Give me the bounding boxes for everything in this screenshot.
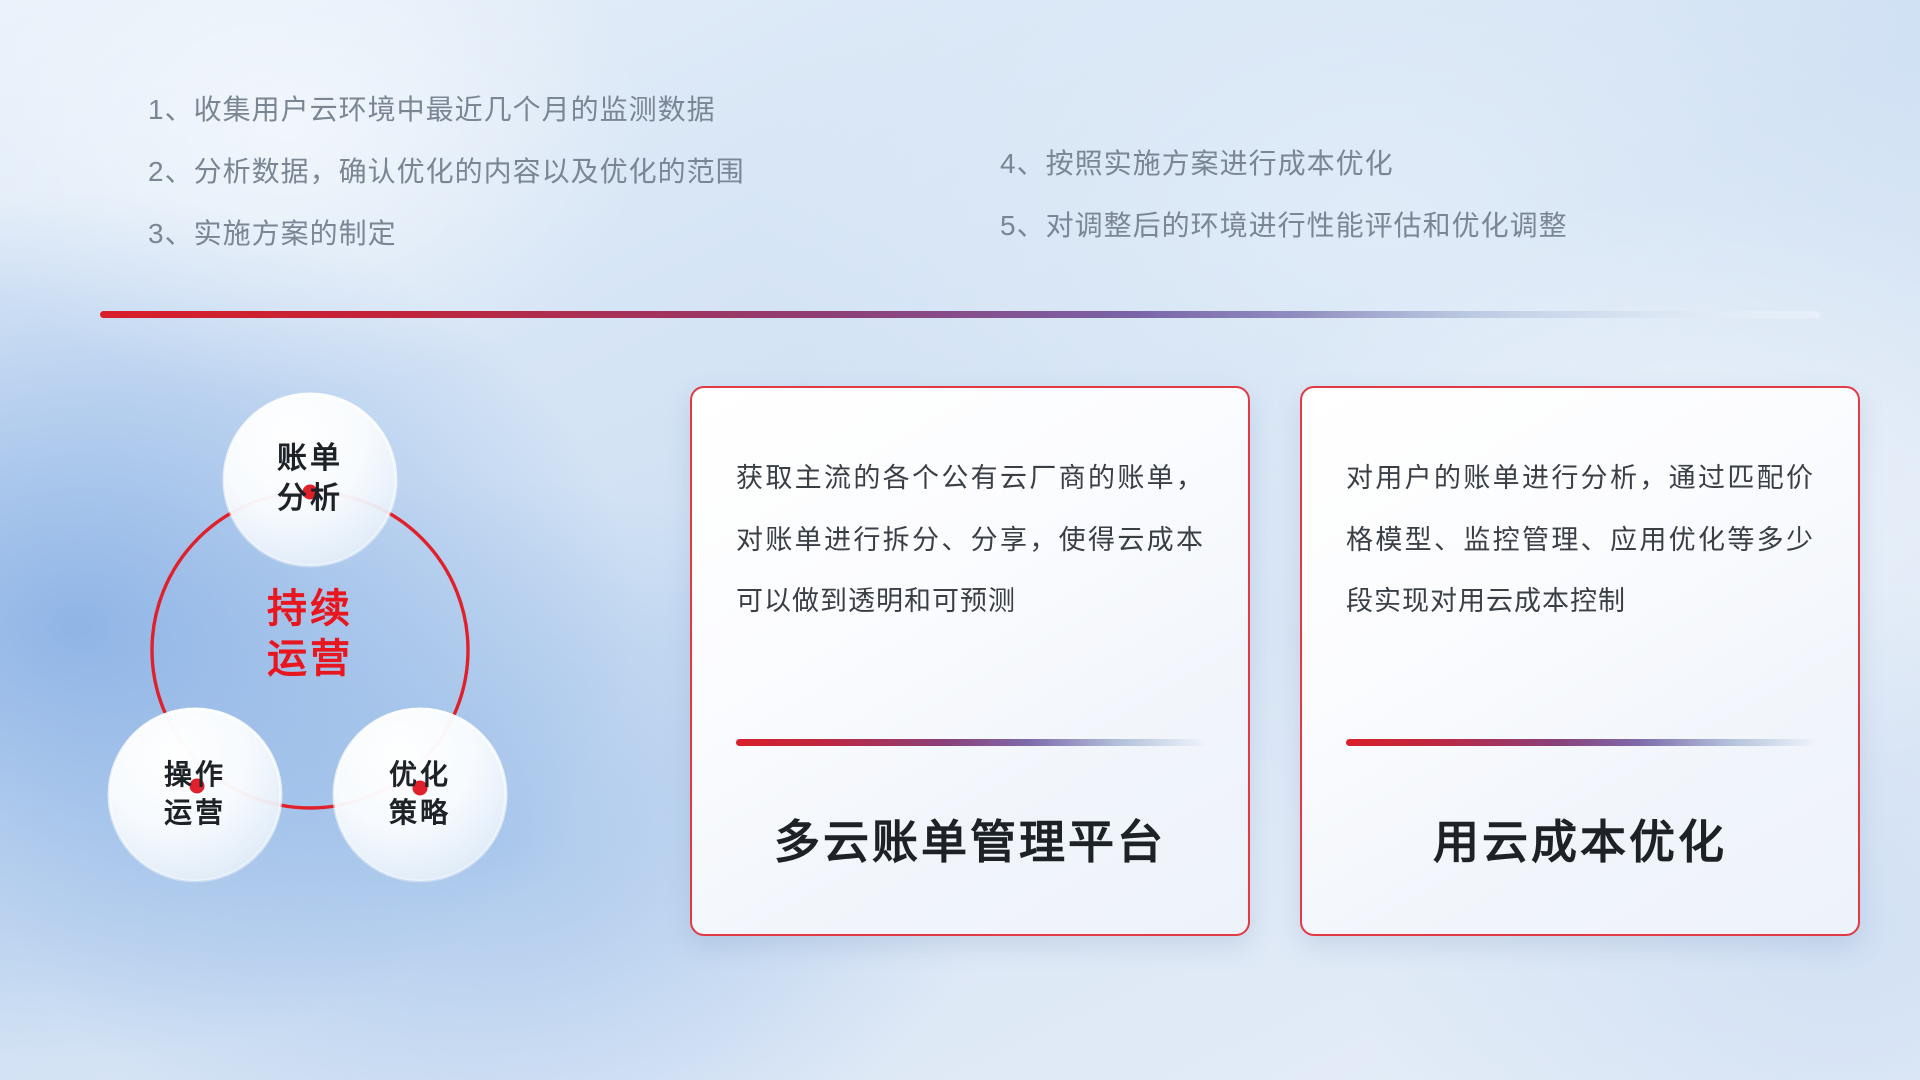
step-item-5: 5、对调整后的环境进行性能评估和优化调整 [1000,212,1568,240]
step-item-3: 3、实施方案的制定 [148,220,745,248]
step-item-2: 2、分析数据，确认优化的内容以及优化的范围 [148,158,745,186]
card-title: 多云账单管理平台 [692,806,1248,872]
bubble-bill-analysis-line2: 分析 [277,482,343,515]
card-accent-rule [1346,739,1818,746]
step-item-1: 1、收集用户云环境中最近几个月的监测数据 [148,96,745,124]
steps-left-column: 1、收集用户云环境中最近几个月的监测数据 2、分析数据，确认优化的内容以及优化的… [148,96,745,248]
bubble-bill-analysis[interactable] [224,394,396,566]
center-label-line1: 持续 [267,587,353,631]
section-divider [100,311,1820,318]
bubble-bill-analysis-line1: 账单 [277,442,343,475]
center-label-line2: 运营 [267,637,353,681]
card-body-text: 获取主流的各个公有云厂商的账单，对账单进行拆分、分享，使得云成本可以做到透明和可… [736,448,1204,633]
card-title: 用云成本优化 [1302,806,1858,872]
card-cloud-cost-optimization[interactable]: 对用户的账单进行分析，通过匹配价格模型、监控管理、应用优化等多少段实现对用云成本… [1300,386,1860,936]
card-accent-rule [736,739,1208,746]
slide-canvas: 1、收集用户云环境中最近几个月的监测数据 2、分析数据，确认优化的内容以及优化的… [0,0,1920,1080]
steps-right-column: 4、按照实施方案进行成本优化 5、对调整后的环境进行性能评估和优化调整 [1000,150,1568,240]
card-multi-cloud-billing-platform[interactable]: 获取主流的各个公有云厂商的账单，对账单进行拆分、分享，使得云成本可以做到透明和可… [690,386,1250,936]
bubble-optimization-policy-line2: 策略 [389,796,451,828]
bubble-operations-line1: 操作 [164,759,226,790]
bubble-operations-line2: 运营 [164,797,226,828]
bubble-optimization-policy-line1: 优化 [389,759,451,790]
continuous-operations-diagram: 持续 运营 账单 分析 操作 运营 优化 策略 [90,360,610,920]
step-item-4: 4、按照实施方案进行成本优化 [1000,150,1568,178]
card-body-text: 对用户的账单进行分析，通过匹配价格模型、监控管理、应用优化等多少段实现对用云成本… [1346,448,1814,633]
bubble-operations[interactable] [109,709,281,881]
